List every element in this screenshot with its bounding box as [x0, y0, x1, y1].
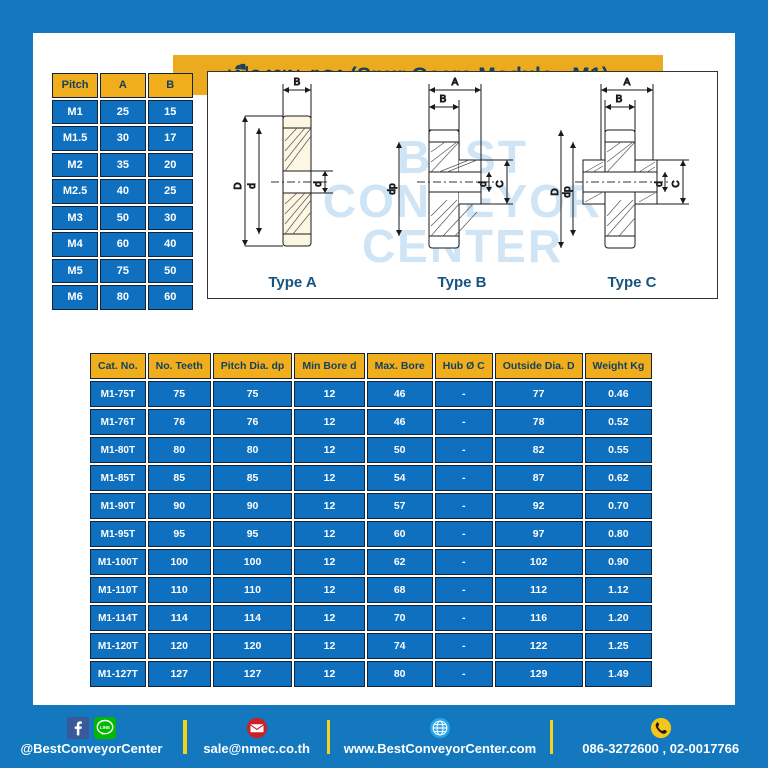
spec-cell: 57: [367, 493, 433, 519]
spec-cell: 0.70: [585, 493, 653, 519]
spec-cell: 127: [148, 661, 211, 687]
table-row: M3 50 30: [52, 206, 193, 231]
spec-cell: 95: [148, 521, 211, 547]
spec-cell: 50: [367, 437, 433, 463]
spec-cell: -: [435, 549, 493, 575]
spec-cell: 120: [213, 633, 293, 659]
spec-cell: 70: [367, 605, 433, 631]
chevron-stripe: [438, 0, 768, 6]
footer-contact-bar: LINE @BestConveyorCenter sale@nmec.co.th…: [0, 705, 768, 768]
specification-table-wrapper: Cat. No. No. Teeth Pitch Dia. dp Min Bor…: [88, 351, 654, 689]
diagram-type-a: D d d B: [208, 72, 377, 298]
spec-cell-cat-no: M1-95T: [90, 521, 146, 547]
spec-cell: 82: [495, 437, 583, 463]
pitch-cell: 17: [148, 126, 193, 151]
table-row: M1 25 15: [52, 100, 193, 125]
table-row: M1-95T95951260-970.80: [90, 521, 652, 547]
svg-text:dp: dp: [562, 186, 573, 198]
spec-header-max-bore: Max. Bore: [367, 353, 433, 379]
spec-cell: 97: [495, 521, 583, 547]
spec-cell: 100: [213, 549, 293, 575]
pitch-table: Pitch A B M1 25 15 M1.5 30 17 M2: [50, 71, 195, 312]
spec-cell: 12: [294, 493, 364, 519]
spec-cell: 0.52: [585, 409, 653, 435]
table-row: M1-80T80801250-820.55: [90, 437, 652, 463]
diagram-label-c: Type C: [608, 274, 657, 291]
spec-cell: 12: [294, 521, 364, 547]
spec-cell: 12: [294, 661, 364, 687]
spec-cell: 85: [148, 465, 211, 491]
phone-icon[interactable]: [650, 717, 672, 739]
svg-text:d: d: [313, 181, 324, 187]
svg-text:A: A: [624, 77, 631, 88]
spec-cell-cat-no: M1-120T: [90, 633, 146, 659]
spec-cell: 90: [148, 493, 211, 519]
pitch-cell: M1: [52, 100, 98, 125]
svg-text:d: d: [654, 181, 665, 187]
spec-cell-cat-no: M1-80T: [90, 437, 146, 463]
pitch-cell: M2: [52, 153, 98, 178]
spec-cell: 1.20: [585, 605, 653, 631]
spec-cell: 74: [367, 633, 433, 659]
spec-cell: 77: [495, 381, 583, 407]
website-label: www.BestConveyorCenter.com: [344, 741, 536, 756]
table-row: M4 60 40: [52, 232, 193, 257]
spec-cell-cat-no: M1-110T: [90, 577, 146, 603]
facebook-icon[interactable]: [67, 717, 89, 739]
spec-cell: 78: [495, 409, 583, 435]
spec-cell: 0.80: [585, 521, 653, 547]
type-b-drawing: A B: [377, 76, 547, 272]
pitch-cell: M4: [52, 232, 98, 257]
svg-text:LINE: LINE: [100, 725, 110, 730]
pitch-cell: M2.5: [52, 179, 98, 204]
table-row: M5 75 50: [52, 259, 193, 284]
spec-cell: 112: [495, 577, 583, 603]
pitch-header-a: A: [100, 73, 145, 98]
spec-header-hub-c: Hub Ø C: [435, 353, 493, 379]
spec-cell: 87: [495, 465, 583, 491]
pitch-cell: 75: [100, 259, 145, 284]
diagram-label-a: Type A: [268, 274, 316, 291]
specification-table: Cat. No. No. Teeth Pitch Dia. dp Min Bor…: [88, 351, 654, 689]
spec-cell-cat-no: M1-127T: [90, 661, 146, 687]
spec-cell: 80: [213, 437, 293, 463]
spec-cell-cat-no: M1-114T: [90, 605, 146, 631]
chevron-stripe: [0, 0, 330, 6]
email-label: sale@nmec.co.th: [203, 741, 310, 756]
type-a-drawing: D d d B: [213, 76, 373, 272]
spec-cell: 76: [148, 409, 211, 435]
pitch-cell: 30: [148, 206, 193, 231]
spec-header-cat-no: Cat. No.: [90, 353, 146, 379]
spec-cell: 80: [367, 661, 433, 687]
spec-cell: -: [435, 605, 493, 631]
diagram-label-b: Type B: [438, 274, 487, 291]
spec-header-pitch-dia: Pitch Dia. dp: [213, 353, 293, 379]
pitch-cell: 60: [100, 232, 145, 257]
spec-cell: 102: [495, 549, 583, 575]
pitch-cell: 20: [148, 153, 193, 178]
spec-cell: 12: [294, 409, 364, 435]
spec-cell: 1.25: [585, 633, 653, 659]
globe-icon[interactable]: [429, 717, 451, 739]
spec-cell: 12: [294, 465, 364, 491]
spec-cell: 75: [148, 381, 211, 407]
table-row: M2 35 20: [52, 153, 193, 178]
pitch-cell: 80: [100, 285, 145, 310]
pitch-cell: 15: [148, 100, 193, 125]
svg-text:B: B: [616, 94, 623, 105]
spec-cell: 0.55: [585, 437, 653, 463]
spec-cell: -: [435, 577, 493, 603]
table-row: M1-100T1001001262-1020.90: [90, 549, 652, 575]
social-icons: LINE: [67, 717, 116, 739]
table-row: M1-75T75751246-770.46: [90, 381, 652, 407]
diagram-type-c: A B: [547, 72, 717, 298]
spec-cell: 127: [213, 661, 293, 687]
spec-cell: -: [435, 381, 493, 407]
table-row: M1.5 30 17: [52, 126, 193, 151]
spec-cell: 85: [213, 465, 293, 491]
table-row: M1-90T90901257-920.70: [90, 493, 652, 519]
table-row: M1-120T1201201274-1221.25: [90, 633, 652, 659]
spec-cell-cat-no: M1-100T: [90, 549, 146, 575]
content-panel: เฟืองขบ-ตรง (Spur Gears Module : M1) Pit…: [33, 33, 735, 705]
spec-cell: 12: [294, 549, 364, 575]
spec-cell: 0.46: [585, 381, 653, 407]
spec-cell: 114: [213, 605, 293, 631]
spec-cell: 95: [213, 521, 293, 547]
spec-cell: 68: [367, 577, 433, 603]
spec-cell: 12: [294, 633, 364, 659]
footer-social[interactable]: LINE @BestConveyorCenter: [0, 717, 183, 756]
spec-cell: 92: [495, 493, 583, 519]
pitch-table-header-row: Pitch A B: [52, 73, 193, 98]
spec-cell: 12: [294, 381, 364, 407]
spec-cell: 114: [148, 605, 211, 631]
pitch-cell: M1.5: [52, 126, 98, 151]
spec-cell: 110: [148, 577, 211, 603]
pitch-header-pitch: Pitch: [52, 73, 98, 98]
spec-cell: 60: [367, 521, 433, 547]
spec-cell: 1.12: [585, 577, 653, 603]
spec-cell: 76: [213, 409, 293, 435]
spec-cell: 120: [148, 633, 211, 659]
svg-text:A: A: [452, 77, 459, 88]
pitch-cell: 25: [100, 100, 145, 125]
pitch-cell: 50: [148, 259, 193, 284]
pitch-cell: M5: [52, 259, 98, 284]
pitch-cell: 25: [148, 179, 193, 204]
spec-cell: 90: [213, 493, 293, 519]
spec-cell: 1.49: [585, 661, 653, 687]
spec-cell: 12: [294, 437, 364, 463]
pitch-cell: 40: [148, 232, 193, 257]
spec-cell: 80: [148, 437, 211, 463]
table-row: M1-85T85851254-870.62: [90, 465, 652, 491]
spec-cell: -: [435, 661, 493, 687]
spec-cell: -: [435, 521, 493, 547]
spec-header-outside-dia: Outside Dia. D: [495, 353, 583, 379]
spec-header-row: Cat. No. No. Teeth Pitch Dia. dp Min Bor…: [90, 353, 652, 379]
svg-text:B: B: [293, 77, 300, 88]
spec-cell-cat-no: M1-75T: [90, 381, 146, 407]
spec-cell-cat-no: M1-85T: [90, 465, 146, 491]
top-section: Pitch A B M1 25 15 M1.5 30 17 M2: [50, 71, 718, 299]
spec-cell-cat-no: M1-90T: [90, 493, 146, 519]
pitch-header-b: B: [148, 73, 193, 98]
spec-cell: 110: [213, 577, 293, 603]
spec-cell: 0.90: [585, 549, 653, 575]
spec-cell-cat-no: M1-76T: [90, 409, 146, 435]
pitch-cell: 40: [100, 179, 145, 204]
spec-cell: 116: [495, 605, 583, 631]
svg-text:B: B: [440, 94, 447, 105]
table-row: M1-114T1141141270-1161.20: [90, 605, 652, 631]
spec-header-min-bore: Min Bore d: [294, 353, 364, 379]
spec-cell: 62: [367, 549, 433, 575]
footer-email[interactable]: sale@nmec.co.th: [187, 717, 327, 756]
table-row: M1-110T1101101268-1121.12: [90, 577, 652, 603]
spec-cell: -: [435, 465, 493, 491]
type-c-drawing: A B: [547, 76, 717, 272]
spec-header-no-teeth: No. Teeth: [148, 353, 211, 379]
gear-diagram-panel: BEST CONVEYOR CENTER: [207, 71, 718, 299]
pitch-cell: 50: [100, 206, 145, 231]
table-row: M1-76T76761246-780.52: [90, 409, 652, 435]
phone-label: 086-3272600 , 02-0017766: [582, 741, 739, 756]
line-icon[interactable]: LINE: [94, 717, 116, 739]
chevron-stripe: [453, 0, 768, 14]
svg-text:C: C: [671, 180, 682, 187]
pitch-cell: M6: [52, 285, 98, 310]
spec-header-weight: Weight Kg: [585, 353, 653, 379]
svg-text:d: d: [478, 181, 489, 187]
spec-cell: 12: [294, 605, 364, 631]
spec-cell: -: [435, 409, 493, 435]
pitch-cell: M3: [52, 206, 98, 231]
spec-cell: 75: [213, 381, 293, 407]
svg-text:D: D: [233, 182, 244, 189]
spec-cell: 12: [294, 577, 364, 603]
table-row: M2.5 40 25: [52, 179, 193, 204]
spec-cell: 122: [495, 633, 583, 659]
diagram-type-b: A B: [377, 72, 547, 298]
spec-cell: -: [435, 437, 493, 463]
svg-text:d: d: [247, 183, 258, 189]
spec-cell: 54: [367, 465, 433, 491]
social-label: @BestConveyorCenter: [20, 741, 162, 756]
spec-cell: -: [435, 633, 493, 659]
table-row: M6 80 60: [52, 285, 193, 310]
table-row: M1-127T1271271280-1291.49: [90, 661, 652, 687]
spec-cell: 0.62: [585, 465, 653, 491]
spec-cell: 46: [367, 409, 433, 435]
footer-phone[interactable]: 086-3272600 , 02-0017766: [553, 717, 768, 756]
spec-cell: -: [435, 493, 493, 519]
chevron-stripe: [0, 0, 315, 14]
spec-cell: 100: [148, 549, 211, 575]
spec-cell: 46: [367, 381, 433, 407]
footer-website[interactable]: www.BestConveyorCenter.com: [330, 717, 549, 756]
svg-text:dp: dp: [387, 183, 398, 195]
pitch-cell: 60: [148, 285, 193, 310]
svg-text:D: D: [550, 188, 561, 195]
svg-text:C: C: [495, 180, 506, 187]
pitch-cell: 30: [100, 126, 145, 151]
spec-cell: 129: [495, 661, 583, 687]
pitch-cell: 35: [100, 153, 145, 178]
email-icon[interactable]: [246, 717, 268, 739]
